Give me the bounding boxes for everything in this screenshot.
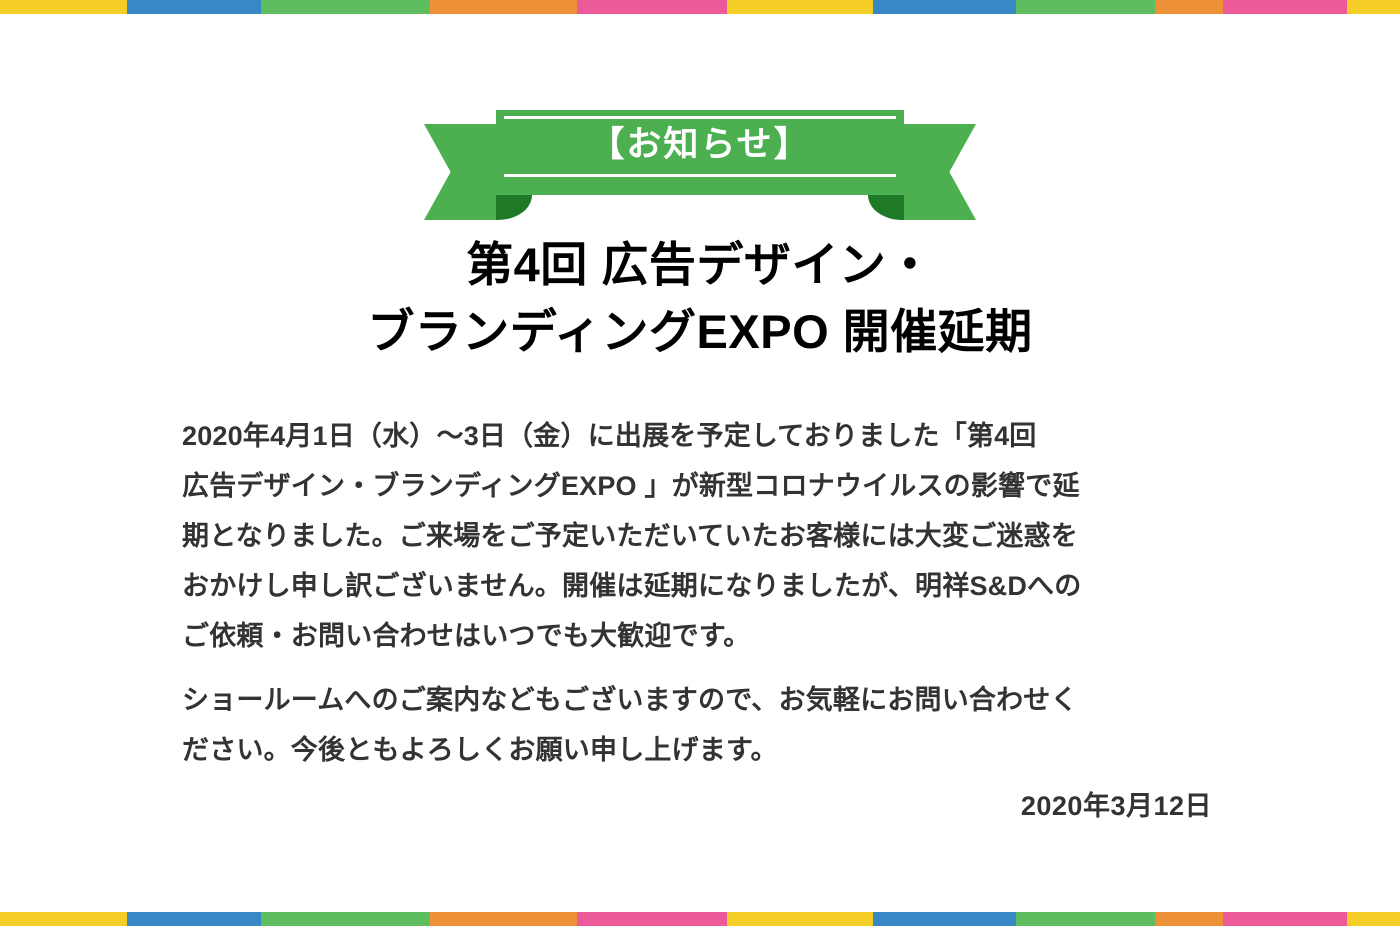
stripe-segment-6 — [873, 0, 1017, 14]
stripe-segment-9 — [1223, 0, 1348, 14]
stripe-segment-8 — [1155, 0, 1222, 14]
notice-paragraph-1-line-3: 期となりました。ご来場をご予定いただいていたお客様には大変ご迷惑を — [182, 512, 1212, 562]
notice-page: 【お知らせ】 第4回 広告デザイン・ ブランディングEXPO 開催延期 2020… — [0, 14, 1400, 912]
ribbon-banner: 【お知らせ】 — [0, 110, 1400, 220]
stripe-segment-4 — [577, 0, 727, 14]
stripe-segment-2 — [261, 0, 430, 14]
stripe-segment-10 — [1347, 0, 1400, 14]
bottom-stripe-bar — [0, 912, 1400, 926]
notice-paragraph-1-line-1: 2020年4月1日（水）〜3日（金）に出展を予定しておりました「第4回 — [182, 412, 1212, 462]
ribbon-fold-left-icon — [496, 195, 532, 220]
page-title: 第4回 広告デザイン・ ブランディングEXPO 開催延期 — [0, 232, 1400, 365]
stripe-segment-5 — [727, 0, 873, 14]
notice-paragraph-2-line-2: ださい。今後ともよろしくお願い申し上げます。 — [182, 726, 1212, 776]
stripe-segment-0 — [0, 0, 127, 14]
stripe-segment-6 — [873, 912, 1017, 926]
stripe-segment-7 — [1016, 912, 1155, 926]
notice-paragraph-2-line-1: ショールームへのご案内などもございますので、お気軽にお問い合わせく — [182, 676, 1212, 726]
stripe-segment-5 — [727, 912, 873, 926]
page-title-line-1: 第4回 広告デザイン・ — [0, 232, 1400, 299]
ribbon-label: 【お知らせ】 — [496, 110, 904, 180]
page-title-line-2: ブランディングEXPO 開催延期 — [0, 299, 1400, 366]
notice-paragraph-1: 2020年4月1日（水）〜3日（金）に出展を予定しておりました「第4回 広告デザ… — [182, 412, 1212, 662]
notice-paragraph-1-line-5: ご依頼・お問い合わせはいつでも大歓迎です。 — [182, 612, 1212, 662]
stripe-segment-10 — [1347, 912, 1400, 926]
stripe-segment-9 — [1223, 912, 1348, 926]
notice-paragraph-1-line-4: おかけし申し訳ございません。開催は延期になりましたが、明祥S&Dへの — [182, 562, 1212, 612]
ribbon-tail-right-icon — [902, 124, 976, 220]
stripe-segment-0 — [0, 912, 127, 926]
stripe-segment-8 — [1155, 912, 1222, 926]
notice-date: 2020年3月12日 — [182, 784, 1212, 823]
stripe-segment-3 — [430, 912, 578, 926]
ribbon-fold-right-icon — [868, 195, 904, 220]
stripe-segment-1 — [127, 0, 261, 14]
notice-body: 2020年4月1日（水）〜3日（金）に出展を予定しておりました「第4回 広告デザ… — [182, 412, 1212, 776]
stripe-segment-1 — [127, 912, 261, 926]
ribbon-graphic: 【お知らせ】 — [496, 110, 904, 220]
stripe-segment-3 — [430, 0, 578, 14]
notice-paragraph-1-line-2: 広告デザイン・ブランディングEXPO 」が新型コロナウイルスの影響で延 — [182, 462, 1212, 512]
stripe-segment-4 — [577, 912, 727, 926]
top-stripe-bar — [0, 0, 1400, 14]
stripe-segment-2 — [261, 912, 430, 926]
ribbon-tail-left-icon — [424, 124, 498, 220]
stripe-segment-7 — [1016, 0, 1155, 14]
notice-paragraph-2: ショールームへのご案内などもございますので、お気軽にお問い合わせく ださい。今後… — [182, 676, 1212, 776]
